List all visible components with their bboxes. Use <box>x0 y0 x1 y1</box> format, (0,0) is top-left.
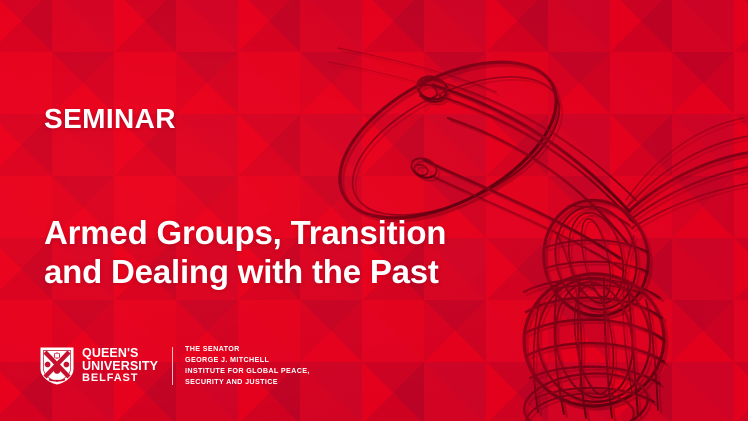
slide-title: Armed Groups, Transition and Dealing wit… <box>44 214 446 292</box>
slide-kicker: SEMINAR <box>44 105 176 133</box>
institute-line-3: INSTITUTE FOR GLOBAL PEACE, <box>185 366 310 377</box>
institute-line-4: SECURITY AND JUSTICE <box>185 377 310 388</box>
wordmark-line-3: BELFAST <box>82 373 158 384</box>
mitchell-institute-wordmark: THE SENATOR GEORGE J. MITCHELL INSTITUTE… <box>185 344 310 388</box>
institute-line-2: GEORGE J. MITCHELL <box>185 355 310 366</box>
logo-lockup: QUEEN'S UNIVERSITY BELFAST THE SENATOR G… <box>40 344 310 388</box>
title-line-1: Armed Groups, Transition <box>44 214 446 253</box>
qub-wordmark: QUEEN'S UNIVERSITY BELFAST <box>82 347 158 384</box>
title-line-2: and Dealing with the Past <box>44 253 446 292</box>
seminar-slide: SEMINAR Armed Groups, Transition and Dea… <box>0 0 748 421</box>
queens-crest-icon <box>40 347 74 385</box>
institute-line-1: THE SENATOR <box>185 344 310 355</box>
logo-divider <box>172 347 173 385</box>
